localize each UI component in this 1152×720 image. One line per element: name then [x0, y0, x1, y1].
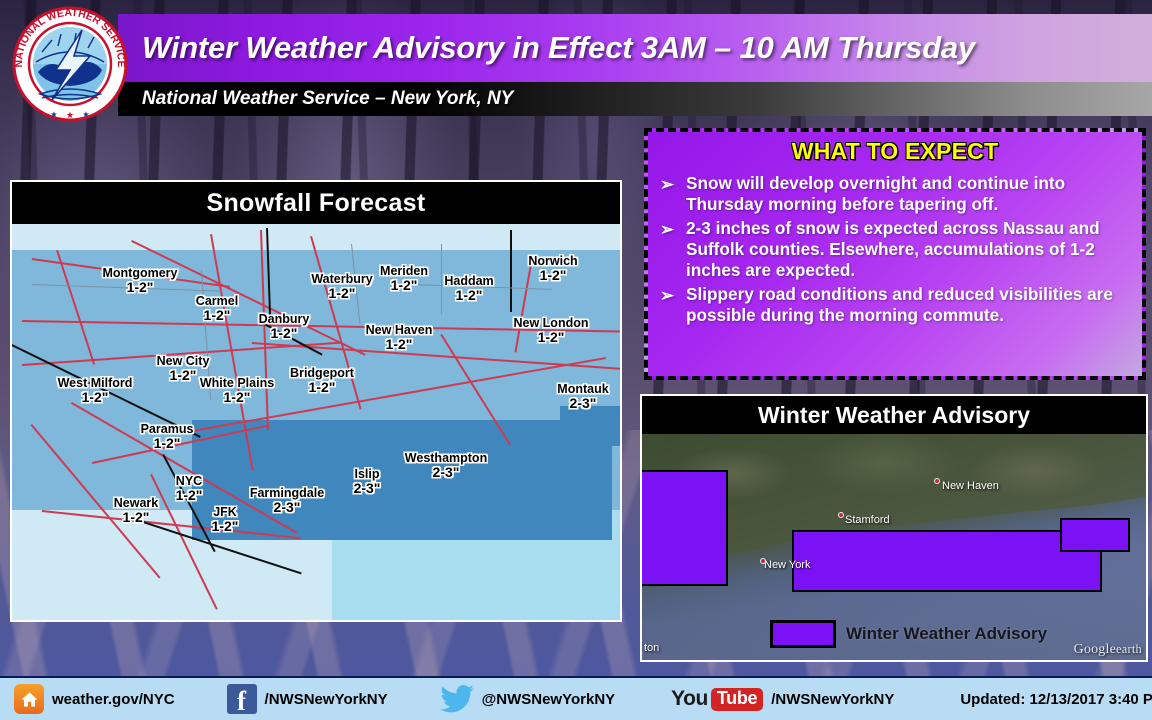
bullet-arrow-icon: ➢	[660, 219, 674, 240]
bullet-arrow-icon: ➢	[660, 285, 674, 306]
advisory-city-label: ton	[644, 642, 659, 654]
youtube-icon: You Tube	[671, 687, 763, 711]
snowfall-forecast-panel: Snowfall Forecast	[10, 180, 622, 622]
advisory-city-dot	[838, 512, 844, 518]
advisory-panel-title: Winter Weather Advisory	[642, 396, 1146, 434]
snowfall-city-name: NYC	[176, 474, 203, 488]
home-icon	[14, 684, 44, 714]
snowfall-city-label: NYC1-2"	[176, 474, 203, 504]
what-to-expect-bullet-text: Slippery road conditions and reduced vis…	[686, 284, 1113, 325]
snowfall-city-name: JFK	[212, 505, 239, 519]
advisory-city-label: New York	[764, 559, 810, 571]
snowfall-city-name: Danbury	[259, 312, 310, 326]
snowfall-city-label: Bridgeport1-2"	[290, 366, 354, 396]
snowfall-city-name: Islip	[354, 467, 381, 481]
snowfall-city-label: Carmel1-2"	[196, 294, 238, 324]
snowfall-city-amount: 1-2"	[141, 436, 194, 452]
snowfall-city-amount: 1-2"	[259, 326, 310, 342]
snowfall-city-amount: 2-3"	[354, 481, 381, 497]
snowfall-city-name: Newark	[114, 496, 158, 510]
youtube-you-text: You	[671, 687, 708, 711]
advisory-city-dot	[934, 478, 940, 484]
snowfall-city-label: Haddam1-2"	[444, 274, 493, 304]
snowfall-city-name: New Haven	[366, 323, 433, 337]
footer-youtube-label: /NWSNewYorkNY	[771, 691, 894, 708]
svg-text:★: ★	[82, 110, 89, 119]
snowfall-city-label: Islip2-3"	[354, 467, 381, 497]
what-to-expect-title: WHAT TO EXPECT	[648, 138, 1142, 165]
advisory-zone-east-fork	[1060, 518, 1130, 552]
snowfall-city-amount: 2-3"	[405, 465, 487, 481]
snowfall-city-name: Norwich	[528, 254, 577, 268]
snowfall-city-name: West Milford	[58, 376, 133, 390]
snowfall-city-amount: 1-2"	[58, 390, 133, 406]
snowfall-city-amount: 1-2"	[366, 337, 433, 353]
snowfall-city-name: Farmingdale	[250, 486, 324, 500]
snowfall-city-label: New Haven1-2"	[366, 323, 433, 353]
advisory-city-label: Stamford	[845, 514, 890, 526]
snowfall-city-name: Bridgeport	[290, 366, 354, 380]
footer-updated-label: Updated: 12/13/2017 3:40 PM	[960, 691, 1152, 708]
footer-website-link[interactable]: weather.gov/NYC	[14, 684, 175, 714]
snowfall-city-label: Farmingdale2-3"	[250, 486, 324, 516]
snowfall-city-name: Waterbury	[311, 272, 372, 286]
snowfall-city-label: White Plains1-2"	[200, 376, 274, 406]
svg-text:★: ★	[50, 110, 57, 119]
snowfall-city-label: Westhampton2-3"	[405, 451, 487, 481]
what-to-expect-bullet-text: 2-3 inches of snow is expected across Na…	[686, 218, 1100, 281]
what-to-expect-panel: WHAT TO EXPECT ➢Snow will develop overni…	[644, 128, 1146, 380]
bullet-arrow-icon: ➢	[660, 174, 674, 195]
google-earth-watermark: Googleearth	[1074, 642, 1142, 658]
map-state-border	[510, 230, 512, 312]
snowfall-city-label: Montauk2-3"	[557, 382, 608, 412]
advisory-legend: Winter Weather Advisory	[770, 620, 1047, 648]
what-to-expect-bullet-list: ➢Snow will develop overnight and continu…	[656, 173, 1132, 326]
map-long-island-outline	[187, 412, 620, 542]
what-to-expect-bullet: ➢2-3 inches of snow is expected across N…	[656, 218, 1132, 282]
advisory-zone-long-island	[792, 530, 1102, 592]
footer-updated: Updated: 12/13/2017 3:40 PM	[960, 691, 1152, 708]
snowfall-city-amount: 1-2"	[380, 278, 428, 294]
snowfall-city-amount: 2-3"	[250, 500, 324, 516]
snowfall-city-amount: 1-2"	[114, 510, 158, 526]
snowfall-forecast-map: Montgomery1-2"Carmel1-2"Waterbury1-2"Mer…	[12, 224, 620, 622]
snowfall-panel-title: Snowfall Forecast	[12, 182, 620, 224]
what-to-expect-bullet: ➢Slippery road conditions and reduced vi…	[656, 284, 1132, 327]
snowfall-city-amount: 2-3"	[557, 396, 608, 412]
snowfall-city-amount: 1-2"	[290, 380, 354, 396]
youtube-tube-text: Tube	[711, 688, 763, 711]
snowfall-city-amount: 1-2"	[200, 390, 274, 406]
map-county-line	[441, 244, 442, 314]
snowfall-city-label: Meriden1-2"	[380, 264, 428, 294]
snowfall-city-label: Waterbury1-2"	[311, 272, 372, 302]
nws-logo-icon: NATIONAL WEATHER SERVICE ★ ★ ★	[12, 6, 128, 122]
advisory-legend-label: Winter Weather Advisory	[846, 624, 1047, 644]
svg-text:★: ★	[66, 110, 74, 120]
footer-bar: weather.gov/NYC f /NWSNewYorkNY @NWSNewY…	[0, 676, 1152, 720]
google-earth-primary: Google	[1074, 642, 1116, 657]
footer-twitter-link[interactable]: @NWSNewYorkNY	[440, 685, 616, 713]
advisory-legend-swatch	[770, 620, 836, 648]
footer-facebook-label: /NWSNewYorkNY	[265, 691, 388, 708]
footer-facebook-link[interactable]: f /NWSNewYorkNY	[227, 684, 388, 714]
what-to-expect-bullet-text: Snow will develop overnight and continue…	[686, 173, 1065, 214]
snowfall-city-label: JFK1-2"	[212, 505, 239, 535]
snowfall-city-name: Carmel	[196, 294, 238, 308]
google-earth-secondary: earth	[1116, 642, 1142, 656]
snowfall-city-amount: 1-2"	[212, 519, 239, 535]
snowfall-city-amount: 1-2"	[176, 488, 203, 504]
snowfall-city-name: White Plains	[200, 376, 274, 390]
advisory-city-label: New Haven	[942, 480, 999, 492]
snowfall-city-label: Montgomery1-2"	[103, 266, 178, 296]
advisory-zone-west	[642, 470, 728, 586]
footer-twitter-label: @NWSNewYorkNY	[482, 691, 616, 708]
footer-website-label: weather.gov/NYC	[52, 691, 175, 708]
facebook-icon: f	[227, 684, 257, 714]
snowfall-city-label: New London1-2"	[514, 316, 589, 346]
snowfall-city-amount: 1-2"	[528, 268, 577, 284]
snowfall-city-name: Haddam	[444, 274, 493, 288]
snowfall-city-amount: 1-2"	[311, 286, 372, 302]
snowfall-city-label: Newark1-2"	[114, 496, 158, 526]
office-name: National Weather Service – New York, NY	[142, 84, 513, 114]
snowfall-city-name: Westhampton	[405, 451, 487, 465]
snowfall-city-name: Montauk	[557, 382, 608, 396]
snowfall-city-name: New City	[157, 354, 210, 368]
snowfall-city-label: Paramus1-2"	[141, 422, 194, 452]
advisory-satellite-map: New HavenStamfordNew Yorkton Winter Weat…	[642, 434, 1146, 660]
snowfall-city-amount: 1-2"	[196, 308, 238, 324]
snowfall-city-name: Paramus	[141, 422, 194, 436]
snowfall-city-label: Danbury1-2"	[259, 312, 310, 342]
snowfall-city-amount: 1-2"	[103, 280, 178, 296]
snowfall-city-label: Norwich1-2"	[528, 254, 577, 284]
snowfall-city-amount: 1-2"	[444, 288, 493, 304]
winter-weather-advisory-panel: Winter Weather Advisory New HavenStamfor…	[640, 394, 1148, 662]
snowfall-city-name: Meriden	[380, 264, 428, 278]
snowfall-city-amount: 1-2"	[514, 330, 589, 346]
snowfall-city-name: New London	[514, 316, 589, 330]
what-to-expect-bullet: ➢Snow will develop overnight and continu…	[656, 173, 1132, 216]
twitter-icon	[440, 685, 474, 713]
page-title: Winter Weather Advisory in Effect 3AM – …	[142, 22, 1142, 74]
snowfall-city-name: Montgomery	[103, 266, 178, 280]
footer-youtube-link[interactable]: You Tube /NWSNewYorkNY	[671, 687, 894, 711]
snowfall-city-label: West Milford1-2"	[58, 376, 133, 406]
